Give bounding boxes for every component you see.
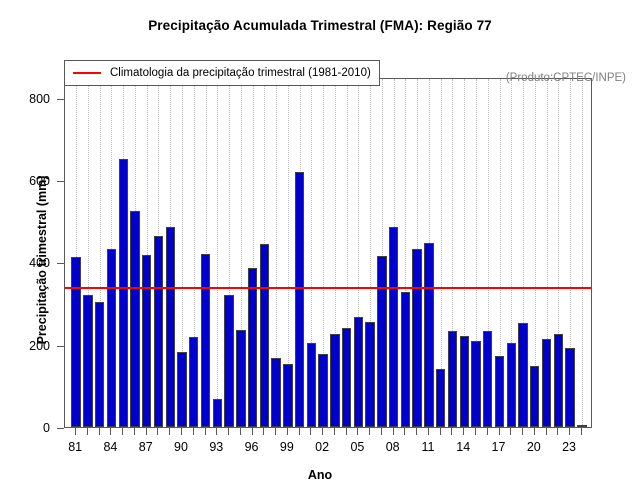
x-tick-label: 23 bbox=[562, 440, 576, 454]
y-tick-mark bbox=[57, 181, 64, 182]
x-tick-mark bbox=[557, 428, 558, 435]
x-tick-label: 14 bbox=[456, 440, 470, 454]
x-tick-mark bbox=[369, 428, 370, 435]
x-tick-mark bbox=[451, 428, 452, 435]
bar-95 bbox=[236, 330, 245, 427]
bar-02 bbox=[318, 354, 327, 427]
legend: Climatologia da precipitação trimestral … bbox=[64, 60, 380, 86]
x-tick-mark bbox=[357, 428, 358, 435]
bar-06 bbox=[365, 322, 374, 427]
bar-18 bbox=[507, 343, 516, 427]
bar-85 bbox=[119, 159, 128, 427]
x-tick-label: 90 bbox=[174, 440, 188, 454]
bar-12 bbox=[436, 369, 445, 427]
bar-07 bbox=[377, 256, 386, 427]
x-tick-label: 99 bbox=[280, 440, 294, 454]
x-tick-mark bbox=[393, 428, 394, 435]
bar-21 bbox=[542, 339, 551, 427]
bar-96 bbox=[248, 268, 257, 427]
bar-90 bbox=[177, 352, 186, 427]
x-tick-mark bbox=[299, 428, 300, 435]
bar-89 bbox=[166, 227, 175, 427]
x-tick-label: 81 bbox=[68, 440, 82, 454]
climatology-line bbox=[65, 287, 591, 289]
x-tick-label: 05 bbox=[350, 440, 364, 454]
x-tick-mark bbox=[546, 428, 547, 435]
x-tick-mark bbox=[205, 428, 206, 435]
x-tick-mark bbox=[75, 428, 76, 435]
bars-layer bbox=[65, 79, 591, 427]
bar-17 bbox=[495, 356, 504, 427]
x-tick-mark bbox=[499, 428, 500, 435]
x-tick-label: 08 bbox=[386, 440, 400, 454]
x-tick-mark bbox=[157, 428, 158, 435]
x-tick-mark bbox=[169, 428, 170, 435]
bar-10 bbox=[412, 249, 421, 427]
bar-97 bbox=[260, 244, 269, 427]
x-tick-mark bbox=[440, 428, 441, 435]
bar-83 bbox=[95, 302, 104, 427]
x-tick-label: 93 bbox=[209, 440, 223, 454]
x-tick-mark bbox=[263, 428, 264, 435]
chart-title: Precipitação Acumulada Trimestral (FMA):… bbox=[0, 18, 640, 33]
x-tick-mark bbox=[240, 428, 241, 435]
legend-line-swatch bbox=[73, 72, 101, 74]
x-tick-mark bbox=[310, 428, 311, 435]
bar-98 bbox=[271, 358, 280, 427]
y-tick-label: 800 bbox=[29, 92, 50, 106]
plot-area bbox=[64, 78, 592, 428]
x-axis-title: Ano bbox=[0, 468, 640, 482]
bar-03 bbox=[330, 334, 339, 427]
bar-84 bbox=[107, 249, 116, 427]
x-tick-label: 87 bbox=[139, 440, 153, 454]
bar-24 bbox=[577, 425, 586, 427]
x-tick-mark bbox=[346, 428, 347, 435]
x-tick-mark bbox=[252, 428, 253, 435]
x-tick-label: 11 bbox=[421, 440, 434, 454]
bar-94 bbox=[224, 295, 233, 427]
x-tick-mark bbox=[416, 428, 417, 435]
x-tick-mark bbox=[534, 428, 535, 435]
x-tick-mark bbox=[510, 428, 511, 435]
bar-91 bbox=[189, 337, 198, 427]
bar-16 bbox=[483, 331, 492, 427]
x-tick-mark bbox=[404, 428, 405, 435]
bar-88 bbox=[154, 236, 163, 427]
attribution-text: (Produto:CPTEC/INPE) bbox=[506, 72, 626, 84]
precipitation-bar-chart: Precipitação Acumulada Trimestral (FMA):… bbox=[0, 0, 640, 500]
x-tick-mark bbox=[569, 428, 570, 435]
x-tick-mark bbox=[87, 428, 88, 435]
x-tick-mark bbox=[275, 428, 276, 435]
x-tick-mark bbox=[193, 428, 194, 435]
y-axis: 0200400600800 Precipitação trimestral (m… bbox=[0, 0, 64, 500]
x-tick-label: 17 bbox=[492, 440, 506, 454]
x-tick-label: 02 bbox=[315, 440, 329, 454]
x-tick-mark bbox=[146, 428, 147, 435]
x-tick-label: 96 bbox=[245, 440, 259, 454]
bar-99 bbox=[283, 364, 292, 427]
bar-13 bbox=[448, 331, 457, 427]
x-tick-label: 84 bbox=[103, 440, 117, 454]
x-tick-mark bbox=[475, 428, 476, 435]
x-tick-mark bbox=[181, 428, 182, 435]
bar-92 bbox=[201, 254, 210, 427]
bar-09 bbox=[401, 292, 410, 427]
x-tick-mark bbox=[216, 428, 217, 435]
x-tick-mark bbox=[487, 428, 488, 435]
bar-08 bbox=[389, 227, 398, 427]
x-tick-mark bbox=[322, 428, 323, 435]
bar-22 bbox=[554, 334, 563, 427]
bar-01 bbox=[307, 343, 316, 427]
x-tick-mark bbox=[334, 428, 335, 435]
x-tick-mark bbox=[287, 428, 288, 435]
x-axis: 818487909396990205081114172023 Ano bbox=[0, 428, 640, 500]
bar-14 bbox=[460, 336, 469, 427]
bar-05 bbox=[354, 317, 363, 427]
bar-93 bbox=[213, 399, 222, 427]
bar-87 bbox=[142, 255, 151, 427]
x-tick-mark bbox=[122, 428, 123, 435]
x-tick-mark bbox=[463, 428, 464, 435]
x-tick-mark bbox=[228, 428, 229, 435]
bar-23 bbox=[565, 348, 574, 427]
x-tick-mark bbox=[522, 428, 523, 435]
bar-04 bbox=[342, 328, 351, 427]
bar-86 bbox=[130, 211, 139, 427]
x-tick-label: 20 bbox=[527, 440, 541, 454]
bar-00 bbox=[295, 172, 304, 427]
y-tick-mark bbox=[57, 263, 64, 264]
bar-11 bbox=[424, 243, 433, 427]
x-tick-mark bbox=[134, 428, 135, 435]
bar-20 bbox=[530, 366, 539, 427]
y-tick-mark bbox=[57, 99, 64, 100]
x-tick-mark bbox=[110, 428, 111, 435]
x-tick-mark bbox=[381, 428, 382, 435]
x-tick-mark bbox=[581, 428, 582, 435]
bar-81 bbox=[71, 257, 80, 427]
y-axis-title: Precipitação trimestral (mm) bbox=[35, 130, 49, 390]
bar-15 bbox=[471, 341, 480, 427]
x-tick-mark bbox=[99, 428, 100, 435]
y-tick-mark bbox=[57, 346, 64, 347]
bar-19 bbox=[518, 323, 527, 427]
x-tick-mark bbox=[428, 428, 429, 435]
legend-label: Climatologia da precipitação trimestral … bbox=[110, 67, 371, 79]
bar-82 bbox=[83, 295, 92, 427]
